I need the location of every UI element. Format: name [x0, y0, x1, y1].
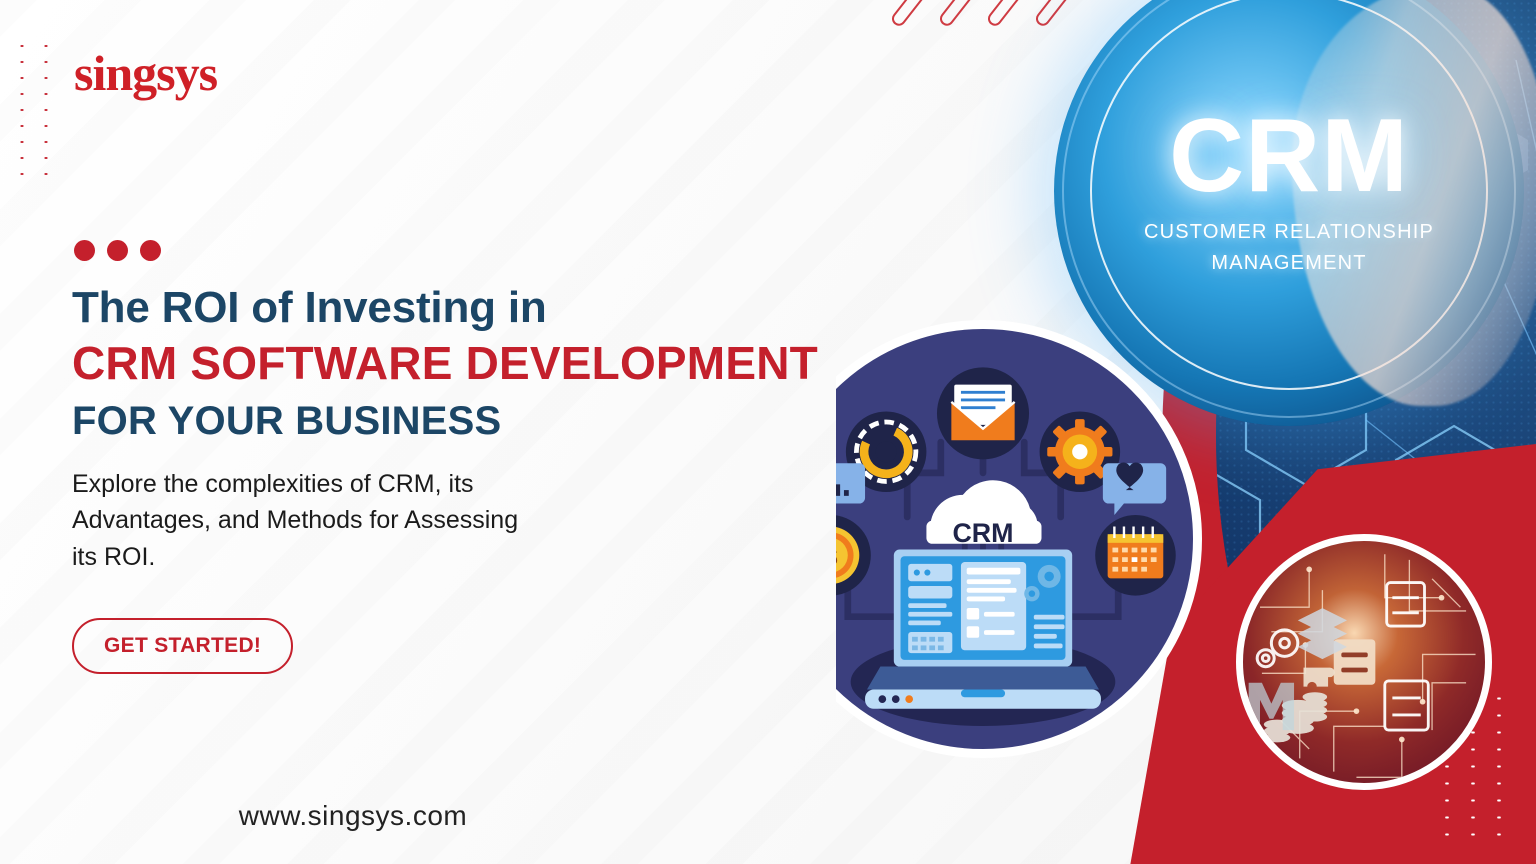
- dot: [107, 240, 128, 261]
- calendar-icon: [1095, 515, 1176, 596]
- sphere-subtitle-line1: CUSTOMER RELATIONSHIP: [1144, 221, 1434, 244]
- dot: [74, 240, 95, 261]
- laptop-dashboard-icon: [851, 550, 1116, 726]
- heart-bubble-icon: [1103, 463, 1166, 516]
- dollar-coin-icon: $: [836, 515, 871, 596]
- dot: [140, 240, 161, 261]
- email-icon: [937, 367, 1029, 459]
- banner-canvas: CRM CUSTOMER RELATIONSHIP MANAGEMENT: [0, 0, 1536, 864]
- brand-logo[interactable]: singsys: [74, 48, 217, 98]
- circuit-board-circle: [1236, 534, 1492, 790]
- headline-line-3: FOR YOUR BUSINESS: [72, 394, 892, 448]
- headline-line-1: The ROI of Investing in: [72, 282, 892, 334]
- subtitle-text: Explore the complexities of CRM, its Adv…: [72, 466, 542, 575]
- sphere-text-block: CRM CUSTOMER RELATIONSHIP MANAGEMENT: [1054, 0, 1524, 426]
- bar-chart-bubble-icon: [836, 463, 865, 515]
- decorative-three-dots: [74, 240, 161, 261]
- decorative-dot-grid-left: [10, 38, 66, 186]
- footer-website-url[interactable]: www.singsys.com: [0, 800, 1536, 832]
- hero-image-panel: CRM CUSTOMER RELATIONSHIP MANAGEMENT: [836, 0, 1536, 864]
- get-started-button[interactable]: GET STARTED!: [72, 618, 293, 674]
- svg-text:CRM: CRM: [952, 518, 1013, 548]
- crm-sphere-graphic: CRM CUSTOMER RELATIONSHIP MANAGEMENT: [1054, 0, 1524, 426]
- sphere-title: CRM: [1169, 107, 1409, 206]
- headline-line-2: CRM SOFTWARE DEVELOPMENT: [72, 334, 892, 394]
- sphere-subtitle-line2: MANAGEMENT: [1211, 252, 1366, 275]
- svg-text:$: $: [836, 543, 838, 571]
- page-title: The ROI of Investing in CRM SOFTWARE DEV…: [72, 282, 892, 448]
